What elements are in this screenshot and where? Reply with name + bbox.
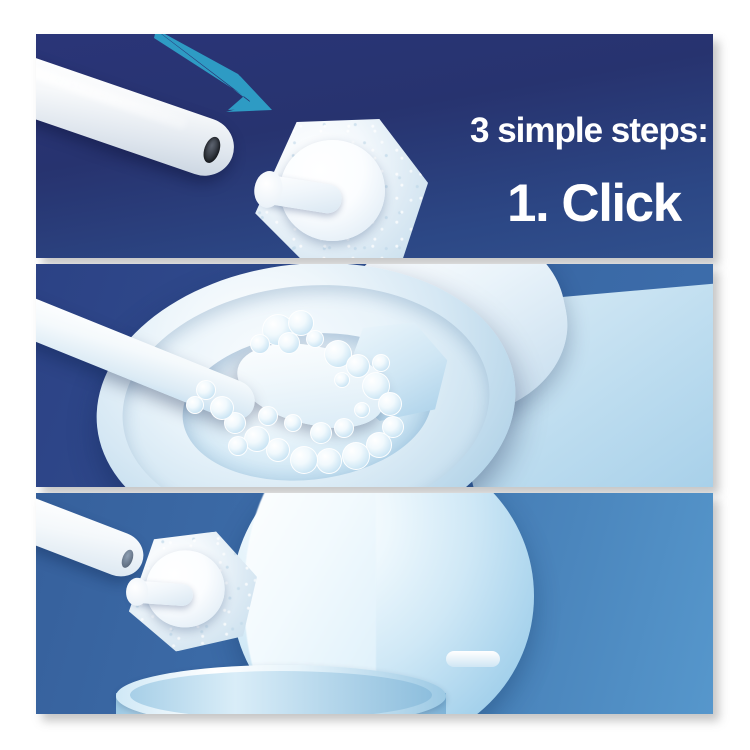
bubble <box>250 334 270 354</box>
bubble <box>210 396 234 420</box>
pad-connector-nub <box>130 581 194 607</box>
bubble <box>186 396 204 414</box>
page-title: 3 simple steps: <box>470 112 708 150</box>
bubble <box>334 372 350 388</box>
panel-step-1: 3 simple steps: 1. Click <box>36 34 713 258</box>
step-1-label: 1. Click <box>507 176 681 232</box>
bubble <box>290 446 318 474</box>
bubble <box>334 418 354 438</box>
bubble <box>342 442 370 470</box>
bubble <box>258 406 278 426</box>
bubble <box>310 422 332 444</box>
panel-step-3: 3. Toss <box>36 493 713 714</box>
bubble <box>278 332 300 354</box>
bubble <box>372 354 390 372</box>
cleaning-pad-icon <box>248 119 428 258</box>
bubble <box>284 414 302 432</box>
bubbles-icon <box>166 310 506 487</box>
bubble <box>306 330 324 348</box>
trash-can-opening <box>130 671 432 714</box>
bubble <box>354 402 370 418</box>
bubble <box>244 426 270 452</box>
bubble <box>378 392 402 416</box>
panel-step-2: 2. Swish <box>36 264 713 487</box>
graphic-canvas: 3 simple steps: 1. Click 2. Swish <box>0 0 750 750</box>
cleaning-pad-icon <box>117 528 263 655</box>
trash-lid-tab <box>446 651 500 667</box>
bubble <box>316 448 342 474</box>
bubble <box>228 436 248 456</box>
